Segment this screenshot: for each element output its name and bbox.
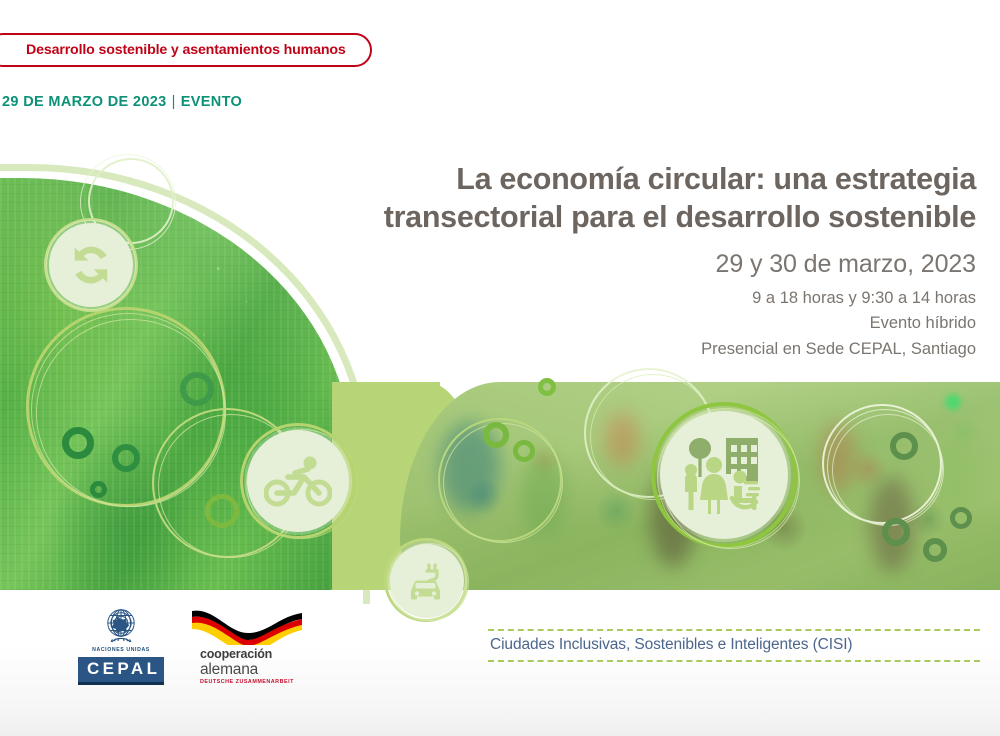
german-flag-ribbon-icon xyxy=(188,605,306,645)
cisi-label: Ciudades Inclusivas, Sostenibles e Intel… xyxy=(490,636,980,654)
united-nations-emblem-icon xyxy=(98,605,144,645)
un-logo-subtitle: NACIONES UNIDAS xyxy=(78,647,164,653)
inclusive-city-icon-bubble[interactable] xyxy=(660,411,788,539)
event-date: 29 DE MARZO DE 2023 xyxy=(2,94,167,110)
cepal-logo: NACIONES UNIDAS CEPAL xyxy=(78,605,164,685)
cepal-wordmark: CEPAL xyxy=(78,657,164,685)
german-cooperation-text: cooperación alemana DEUTSCHE ZUSAMMENARB… xyxy=(188,648,306,685)
category-badge[interactable]: Desarrollo sostenible y asentamientos hu… xyxy=(0,33,372,67)
hero-artwork xyxy=(0,150,1000,605)
kicker-separator: | xyxy=(167,94,181,110)
german-cooperation-line3: DEUTSCHE ZUSAMMENARBEIT xyxy=(200,679,306,685)
inclusive-city-icon xyxy=(678,432,770,518)
recycle-icon-bubble[interactable] xyxy=(49,223,133,307)
german-cooperation-line1: cooperación xyxy=(200,648,306,661)
electric-car-icon-bubble[interactable] xyxy=(390,544,464,618)
event-type: EVENTO xyxy=(181,94,242,110)
bicycle-icon xyxy=(264,455,332,507)
event-kicker: 29 DE MARZO DE 2023|EVENTO xyxy=(2,94,242,110)
event-announcement-page: Desarrollo sostenible y asentamientos hu… xyxy=(0,0,1000,736)
electric-car-icon xyxy=(401,557,453,605)
category-badge-label: Desarrollo sostenible y asentamientos hu… xyxy=(26,42,346,58)
german-cooperation-line2: alemana xyxy=(200,661,306,678)
bicycle-icon-bubble[interactable] xyxy=(247,430,349,532)
cisi-banner: Ciudades Inclusivas, Sostenibles e Intel… xyxy=(488,629,980,662)
german-cooperation-logo: cooperación alemana DEUTSCHE ZUSAMMENARB… xyxy=(188,603,306,685)
recycle-icon xyxy=(65,239,117,291)
footer-logos: NACIONES UNIDAS CEPAL cooperación aleman… xyxy=(78,603,306,685)
